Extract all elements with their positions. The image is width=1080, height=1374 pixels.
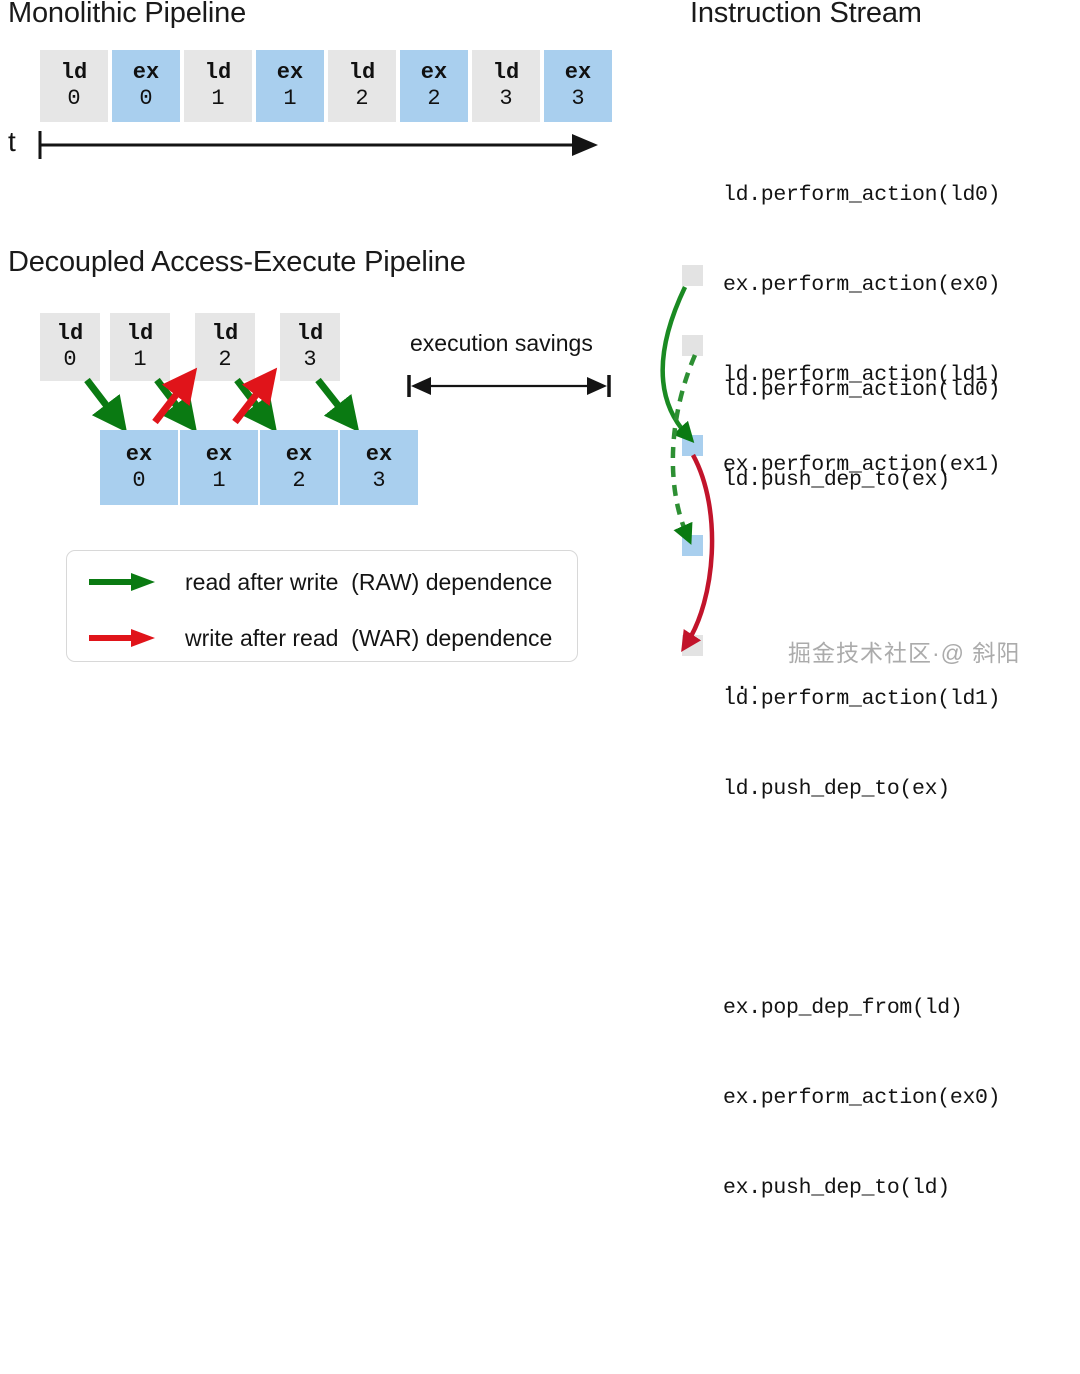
stage-index: 1 xyxy=(211,86,224,112)
legend-label-war: write after read (WAR) dependence xyxy=(185,625,552,652)
exec-stage-block: ex 1 xyxy=(180,430,258,505)
stage-index: 0 xyxy=(63,347,76,373)
code-line: ld.perform_action(ld0) xyxy=(723,375,1000,405)
raw-dependence-curve-dashed xyxy=(673,355,695,535)
load-stage-block: ld 2 xyxy=(195,313,255,381)
stage-index: 1 xyxy=(212,468,225,494)
stage-op: ld xyxy=(212,321,238,347)
raw-dependence-curve xyxy=(663,287,687,435)
stage-op: ld xyxy=(493,60,519,86)
stage-index: 2 xyxy=(218,347,231,373)
decoupled-instruction-code: ld.perform_action(ld0) ld.push_dep_to(ex… xyxy=(723,255,1000,1374)
raw-dependence-arrow xyxy=(87,380,116,418)
dependence-arrows-group xyxy=(0,378,420,436)
pipeline-stage-block: ex 3 xyxy=(544,50,612,122)
legend-label-raw: read after write (RAW) dependence xyxy=(185,569,552,596)
stage-op: ex xyxy=(277,60,303,86)
stage-index: 3 xyxy=(499,86,512,112)
legend-item-raw: read after write (RAW) dependence xyxy=(67,559,577,605)
decoupled-exec-row: ex 0 ex 1 ex 2 ex 3 xyxy=(100,430,418,505)
pipeline-stage-block: ld 0 xyxy=(40,50,108,122)
monolithic-stage-row: ld 0 ex 0 ld 1 ex 1 ld 2 ex 2 ld 3 ex 3 xyxy=(40,50,612,122)
load-stage-block: ld 3 xyxy=(280,313,340,381)
legend-box: read after write (RAW) dependence write … xyxy=(66,550,578,662)
stage-index: 3 xyxy=(372,468,385,494)
legend-item-war: write after read (WAR) dependence xyxy=(67,615,577,661)
stage-op: ld xyxy=(349,60,375,86)
exec-stage-block: ex 2 xyxy=(260,430,338,505)
stage-op: ex xyxy=(133,60,159,86)
pipeline-stage-block: ld 2 xyxy=(328,50,396,122)
execution-savings-label: execution savings xyxy=(410,330,593,357)
pipeline-stage-block: ex 1 xyxy=(256,50,324,122)
code-line: ld.perform_action(ld0) xyxy=(723,180,1000,210)
code-group: ex.pop_dep_from(ld) ex.perform_action(ex… xyxy=(723,1332,1000,1374)
stage-index: 2 xyxy=(292,468,305,494)
pipeline-stage-block: ex 2 xyxy=(400,50,468,122)
stage-op: ex xyxy=(421,60,447,86)
code-group: ld.perform_action(ld0) ld.push_dep_to(ex… xyxy=(723,315,1000,555)
war-dependence-curve xyxy=(687,455,712,643)
stage-op: ld xyxy=(205,60,231,86)
pipeline-stage-block: ld 3 xyxy=(472,50,540,122)
code-line: ld.perform_action(ld1) xyxy=(723,684,1000,714)
stream-dependence-arrows xyxy=(645,255,725,675)
time-axis-arrow xyxy=(36,126,601,162)
stage-op: ex xyxy=(206,442,232,468)
watermark-text: 掘金技术社区·@ 斜阳 xyxy=(788,634,1020,668)
code-line: ld.push_dep_to(ex) xyxy=(723,465,1000,495)
load-stage-block: ld 0 xyxy=(40,313,100,381)
raw-dependence-arrow xyxy=(318,380,348,418)
stage-index: 0 xyxy=(139,86,152,112)
decoupled-load-row: ld 0 ld 1 ld 2 ld 3 xyxy=(40,313,340,381)
stage-op: ld xyxy=(57,321,83,347)
code-line: ex.perform_action(ex0) xyxy=(723,1083,1000,1113)
time-axis-label: t xyxy=(8,128,16,156)
stage-index: 2 xyxy=(427,86,440,112)
stage-index: 1 xyxy=(133,347,146,373)
code-line: ex.push_dep_to(ld) xyxy=(723,1173,1000,1203)
raw-arrow-icon xyxy=(87,571,161,593)
stage-op: ex xyxy=(366,442,392,468)
decoupled-pipeline-title: Decoupled Access-Execute Pipeline xyxy=(8,246,466,279)
monolithic-pipeline-title: Monolithic Pipeline xyxy=(8,0,246,30)
code-group: ex.pop_dep_from(ld) ex.perform_action(ex… xyxy=(723,933,1000,1263)
execution-savings-measure xyxy=(405,372,620,400)
code-line: ex.pop_dep_from(ld) xyxy=(723,993,1000,1023)
stage-op: ex xyxy=(126,442,152,468)
instruction-stream-title: Instruction Stream xyxy=(690,0,922,30)
load-stage-block: ld 1 xyxy=(110,313,170,381)
stage-op: ex xyxy=(565,60,591,86)
stage-index: 1 xyxy=(283,86,296,112)
code-line: ld.push_dep_to(ex) xyxy=(723,774,1000,804)
stage-index: 3 xyxy=(303,347,316,373)
stage-op: ld xyxy=(127,321,153,347)
stage-op: ex xyxy=(286,442,312,468)
stage-index: 0 xyxy=(132,468,145,494)
stage-index: 0 xyxy=(67,86,80,112)
stage-op: ld xyxy=(61,60,87,86)
exec-stage-block: ex 0 xyxy=(100,430,178,505)
stage-index: 2 xyxy=(355,86,368,112)
stage-op: ld xyxy=(297,321,323,347)
pipeline-stage-block: ex 0 xyxy=(112,50,180,122)
stage-index: 3 xyxy=(571,86,584,112)
exec-stage-block: ex 3 xyxy=(340,430,418,505)
pipeline-stage-block: ld 1 xyxy=(184,50,252,122)
war-arrow-icon xyxy=(87,627,161,649)
